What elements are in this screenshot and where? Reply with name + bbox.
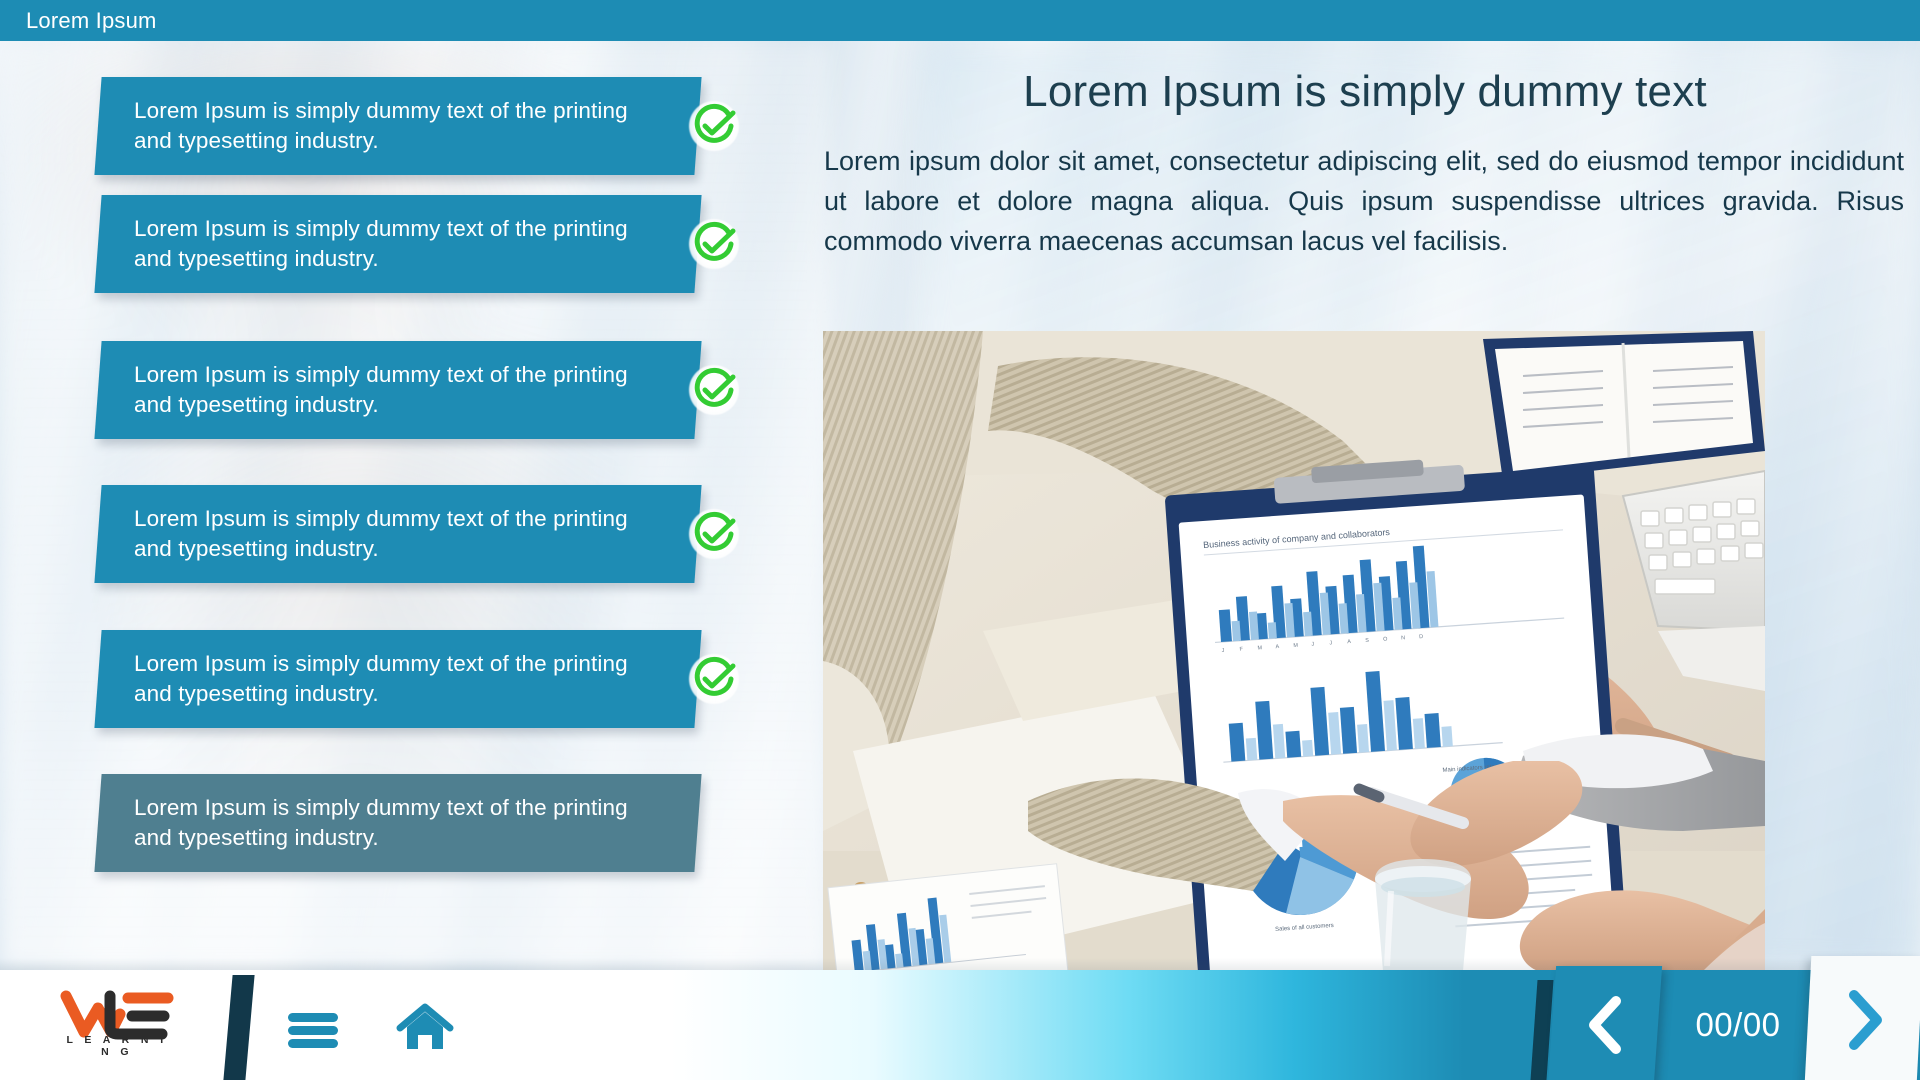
list-item[interactable]: Lorem Ipsum is simply dummy text of the …	[98, 485, 698, 583]
we-logo-icon: L E A R N I N G	[58, 988, 176, 1058]
svg-text:D: D	[1419, 634, 1423, 640]
svg-text:M: M	[1293, 643, 1298, 649]
bottom-toolbar: L E A R N I N G 00/00	[0, 970, 1920, 1080]
check-circle-icon	[688, 508, 740, 560]
list-item-label: Lorem Ipsum is simply dummy text of the …	[134, 360, 634, 420]
content-body-text: Lorem ipsum dolor sit amet, consectetur …	[824, 141, 1904, 261]
right-content-panel: Lorem Ipsum is simply dummy text Lorem i…	[820, 41, 1920, 971]
svg-text:M: M	[1257, 645, 1262, 651]
chevron-right-icon	[1841, 989, 1887, 1051]
home-icon[interactable]	[396, 1002, 454, 1052]
check-circle-icon	[688, 364, 740, 416]
list-item-label: Lorem Ipsum is simply dummy text of the …	[134, 504, 634, 564]
left-objectives-list: Lorem Ipsum is simply dummy text of the …	[0, 41, 830, 971]
list-item[interactable]: Lorem Ipsum is simply dummy text of the …	[98, 341, 698, 439]
content-headline: Lorem Ipsum is simply dummy text	[820, 67, 1910, 117]
hamburger-menu-icon[interactable]	[286, 1008, 340, 1052]
check-circle-icon	[688, 100, 740, 152]
list-item-label: Lorem Ipsum is simply dummy text of the …	[134, 793, 634, 853]
list-item[interactable]: Lorem Ipsum is simply dummy text of the …	[98, 774, 698, 872]
list-item[interactable]: Lorem Ipsum is simply dummy text of the …	[98, 77, 698, 175]
chevron-left-icon	[1582, 995, 1628, 1055]
list-item-label: Lorem Ipsum is simply dummy text of the …	[134, 214, 634, 274]
svg-text:N: N	[1401, 635, 1405, 641]
page-title: Lorem Ipsum	[26, 8, 157, 34]
check-circle-icon	[688, 218, 740, 270]
check-circle-icon	[688, 653, 740, 705]
list-item-label: Lorem Ipsum is simply dummy text of the …	[134, 649, 634, 709]
list-item-label: Lorem Ipsum is simply dummy text of the …	[134, 96, 634, 156]
prev-button[interactable]	[1548, 966, 1662, 1080]
navigation-controls: 00/00	[1520, 970, 1920, 1080]
logo-wordmark: L E A R N I N G	[58, 1034, 176, 1058]
page-counter: 00/00	[1664, 970, 1812, 1080]
slide-root: Lorem Ipsum Lorem Ipsum is simply dummy …	[0, 0, 1920, 1080]
list-item[interactable]: Lorem Ipsum is simply dummy text of the …	[98, 195, 698, 293]
content-photo: Business activity of company and collabo…	[823, 331, 1765, 971]
list-item[interactable]: Lorem Ipsum is simply dummy text of the …	[98, 630, 698, 728]
next-button[interactable]	[1805, 956, 1920, 1080]
top-title-bar: Lorem Ipsum	[0, 0, 1920, 41]
